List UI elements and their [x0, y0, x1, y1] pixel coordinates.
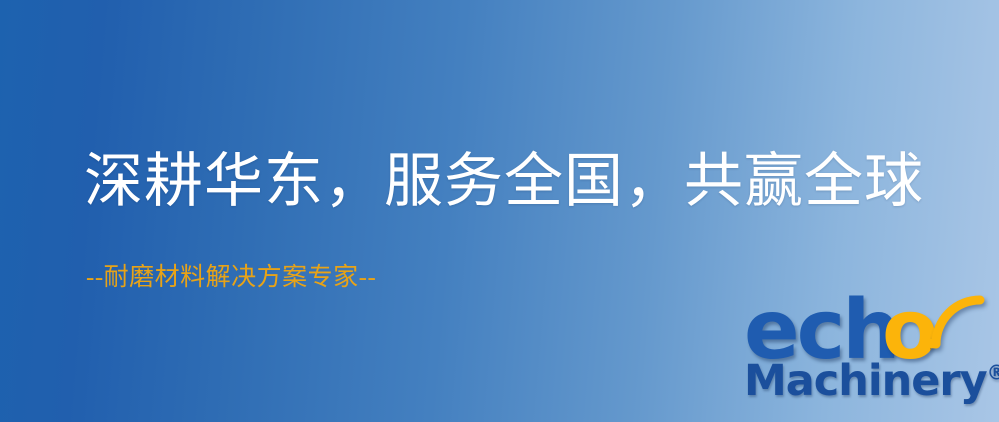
promo-banner: 深耕华东，服务全国，共赢全球 --耐磨材料解决方案专家-- ech o Mach… [0, 0, 999, 422]
signal-waves-icon [930, 294, 996, 356]
banner-headline: 深耕华东，服务全国，共赢全球 [84, 152, 924, 211]
registered-trademark-icon: ® [987, 361, 999, 385]
logo-brand-line: Machinery® [744, 360, 999, 403]
company-logo: ech o Machinery® [742, 296, 994, 418]
banner-subtitle: --耐磨材料解决方案专家-- [86, 265, 376, 290]
logo-brand-text: Machinery [744, 356, 987, 406]
